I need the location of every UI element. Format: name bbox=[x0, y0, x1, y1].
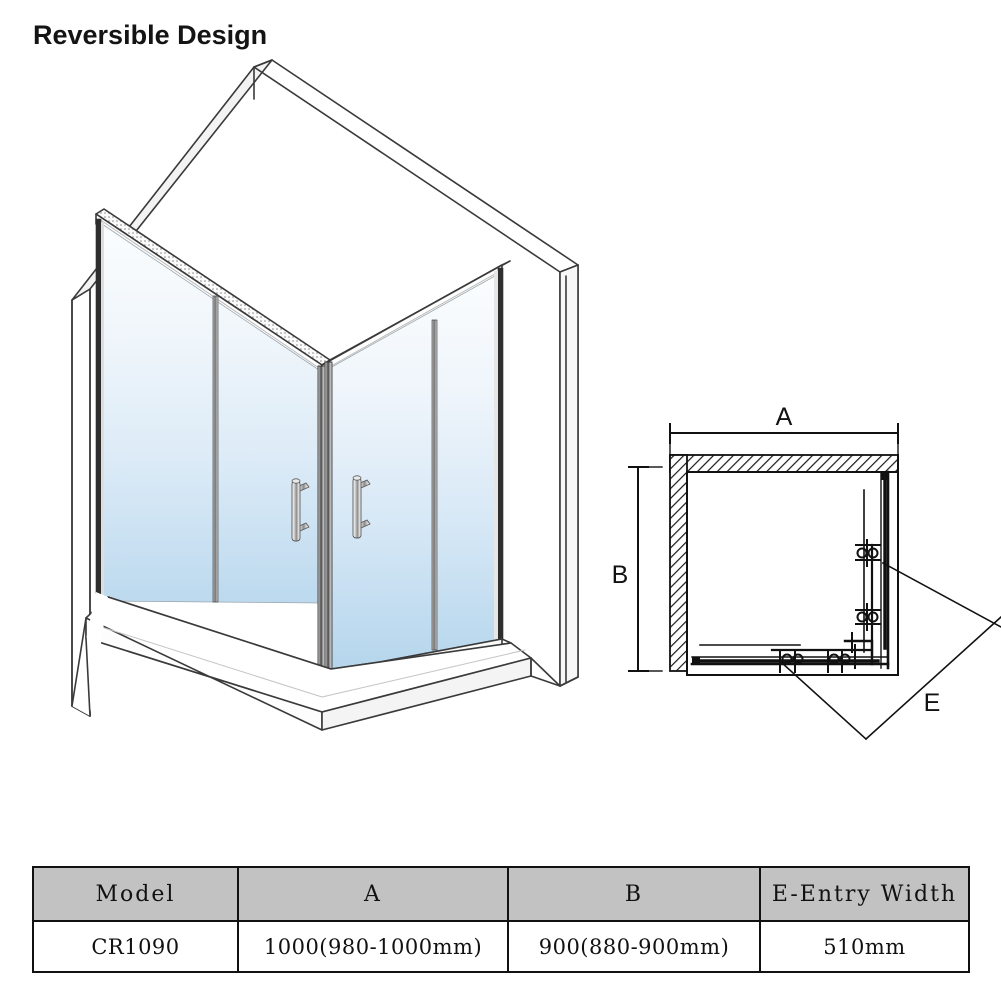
label-e: E bbox=[924, 689, 941, 717]
corner-post bbox=[318, 362, 332, 673]
cell-e-entry-width: 510mm bbox=[760, 921, 969, 972]
table-header-row: Model A B E-Entry Width bbox=[33, 867, 969, 921]
dimension-b bbox=[629, 467, 662, 671]
label-a: A bbox=[776, 403, 793, 431]
plan-view-labels: A B E bbox=[612, 403, 941, 717]
column-header-model: Model bbox=[33, 867, 238, 921]
isometric-enclosure-drawing bbox=[72, 60, 578, 730]
label-b: B bbox=[612, 561, 629, 589]
right-wall-return bbox=[560, 265, 578, 686]
specification-table: Model A B E-Entry Width CR1090 1000(980-… bbox=[32, 866, 970, 973]
column-header-b: B bbox=[508, 867, 760, 921]
column-header-e-entry-width: E-Entry Width bbox=[760, 867, 969, 921]
right-panel-divider bbox=[432, 320, 437, 650]
column-header-a: A bbox=[238, 867, 508, 921]
plan-right-glass-run bbox=[881, 472, 889, 668]
table-row: CR1090 1000(980-1000mm) 900(880-900mm) 5… bbox=[33, 921, 969, 972]
plan-roller-hardware-right bbox=[845, 540, 880, 664]
technical-drawing-area: A B E bbox=[0, 0, 1001, 860]
cell-a-dimension: 1000(980-1000mm) bbox=[238, 921, 508, 972]
plan-sliding-door-leaves bbox=[700, 490, 872, 655]
cell-model: CR1090 bbox=[33, 921, 238, 972]
plan-view-drawing bbox=[629, 424, 1001, 739]
left-panel-divider bbox=[213, 296, 218, 602]
cell-b-dimension: 900(880-900mm) bbox=[508, 921, 760, 972]
